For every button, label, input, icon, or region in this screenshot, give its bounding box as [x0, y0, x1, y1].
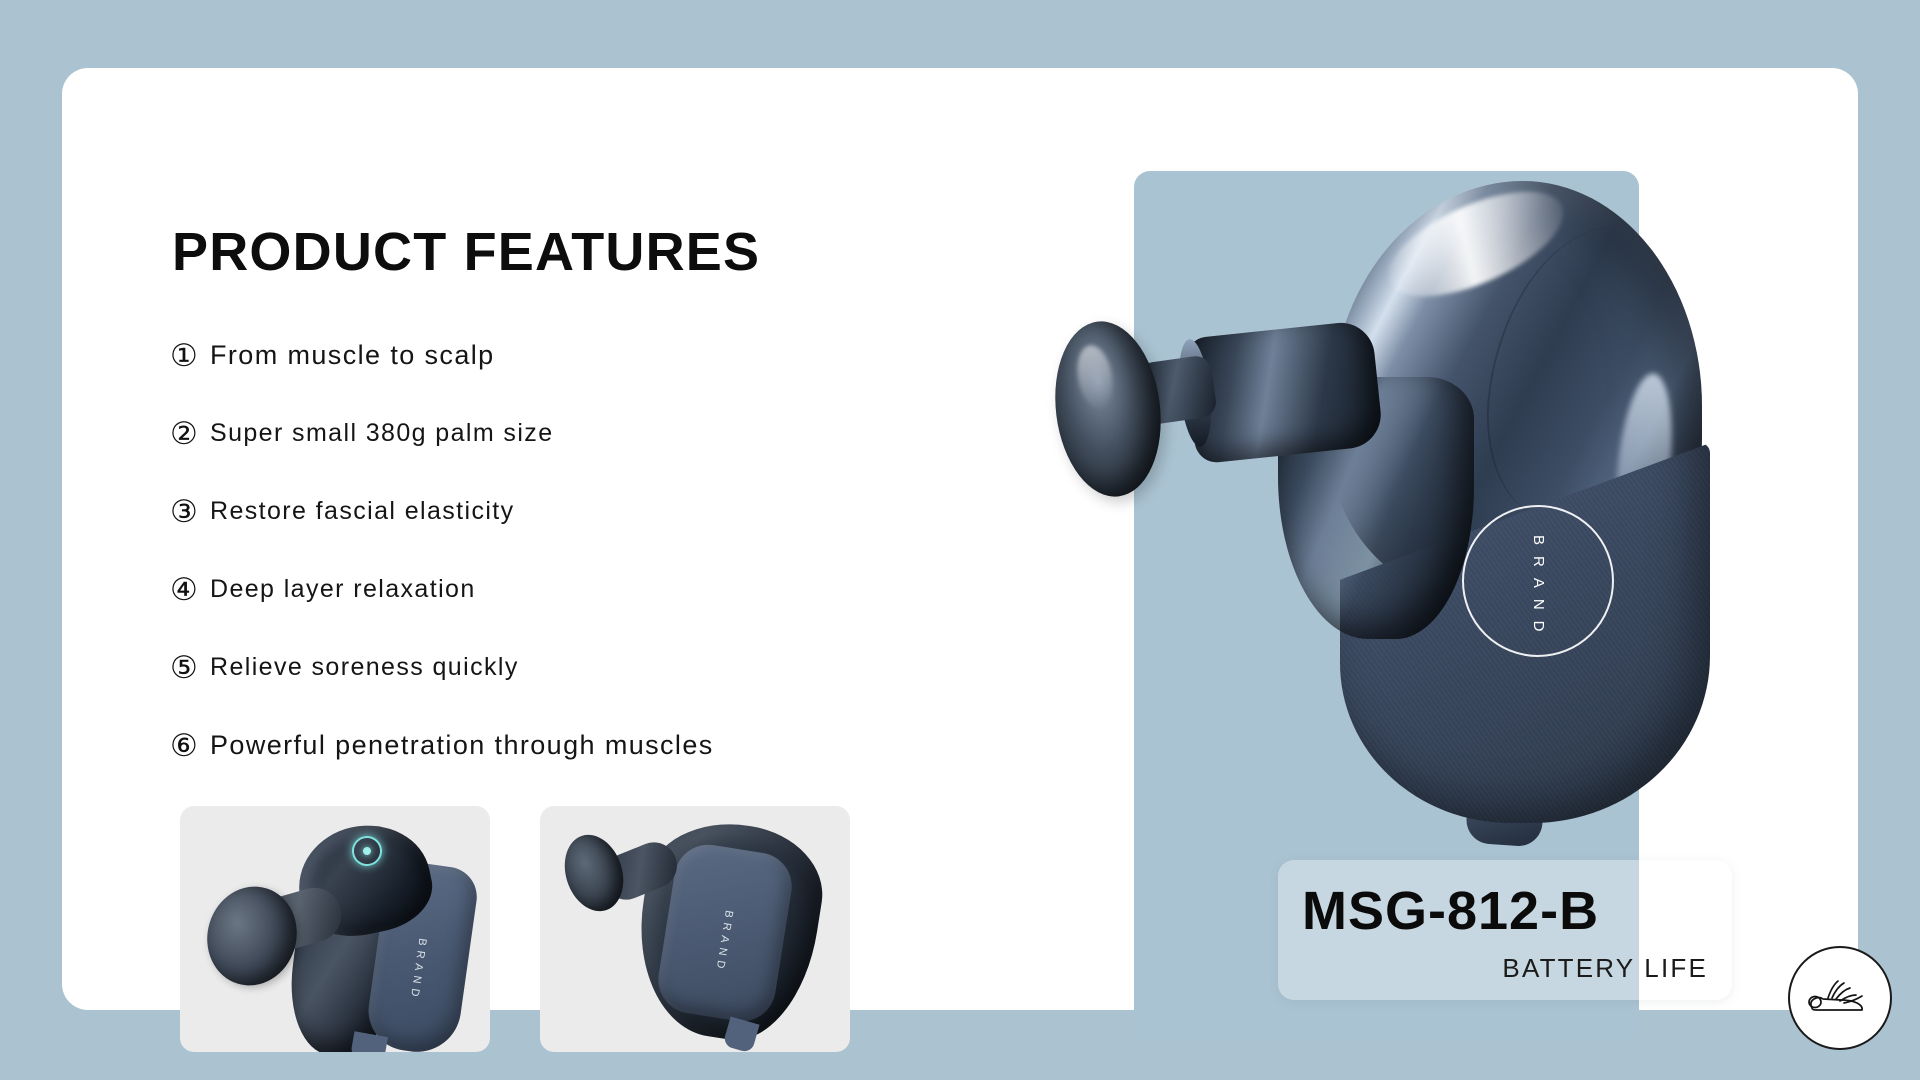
battery-life-label: BATTERY LIFE — [1502, 953, 1708, 984]
page-title: PRODUCT FEATURES — [172, 225, 760, 279]
model-label-card: MSG-812-B BATTERY LIFE — [1278, 860, 1732, 1000]
feature-number-5: ⑤ — [170, 652, 210, 683]
massage-therapy-icon — [1788, 946, 1892, 1050]
feature-number-6: ⑥ — [170, 730, 210, 761]
feature-number-3: ③ — [170, 496, 210, 527]
feature-item-1: ① From muscle to scalp — [170, 316, 930, 394]
feature-number-1: ① — [170, 340, 210, 371]
hero-product-image: BRAND — [1062, 163, 1742, 903]
feature-item-3: ③ Restore fascial elasticity — [170, 472, 930, 550]
thumbnail-gallery: BRAND BRAND — [180, 806, 850, 1052]
feature-item-4: ④ Deep layer relaxation — [170, 550, 930, 628]
thumbnail-massage-gun-angled-view[interactable]: BRAND — [180, 806, 490, 1052]
hero-brand-text: BRAND — [1530, 535, 1547, 643]
feature-text-4: Deep layer relaxation — [210, 575, 476, 604]
feature-list: ① From muscle to scalp ② Super small 380… — [170, 316, 930, 784]
content-card: PRODUCT FEATURES ① From muscle to scalp … — [62, 68, 1858, 1010]
feature-text-6: Powerful penetration through muscles — [210, 730, 714, 761]
feature-text-3: Restore fascial elasticity — [210, 497, 515, 526]
feature-text-1: From muscle to scalp — [210, 340, 495, 371]
feature-item-5: ⑤ Relieve soreness quickly — [170, 628, 930, 706]
massage-therapy-glyph — [1804, 970, 1876, 1028]
gun-massage-head-shape — [197, 873, 307, 998]
thumbnail-massage-gun-side-profile[interactable]: BRAND — [540, 806, 850, 1052]
feature-item-2: ② Super small 380g palm size — [170, 394, 930, 472]
model-number: MSG-812-B — [1302, 884, 1599, 938]
feature-text-2: Super small 380g palm size — [210, 419, 554, 448]
gun-massage-head-shape — [555, 827, 632, 918]
feature-number-2: ② — [170, 418, 210, 449]
feature-number-4: ④ — [170, 574, 210, 605]
feature-item-6: ⑥ Powerful penetration through muscles — [170, 706, 930, 784]
hero-massage-head — [1046, 315, 1171, 502]
feature-text-5: Relieve soreness quickly — [210, 653, 519, 682]
